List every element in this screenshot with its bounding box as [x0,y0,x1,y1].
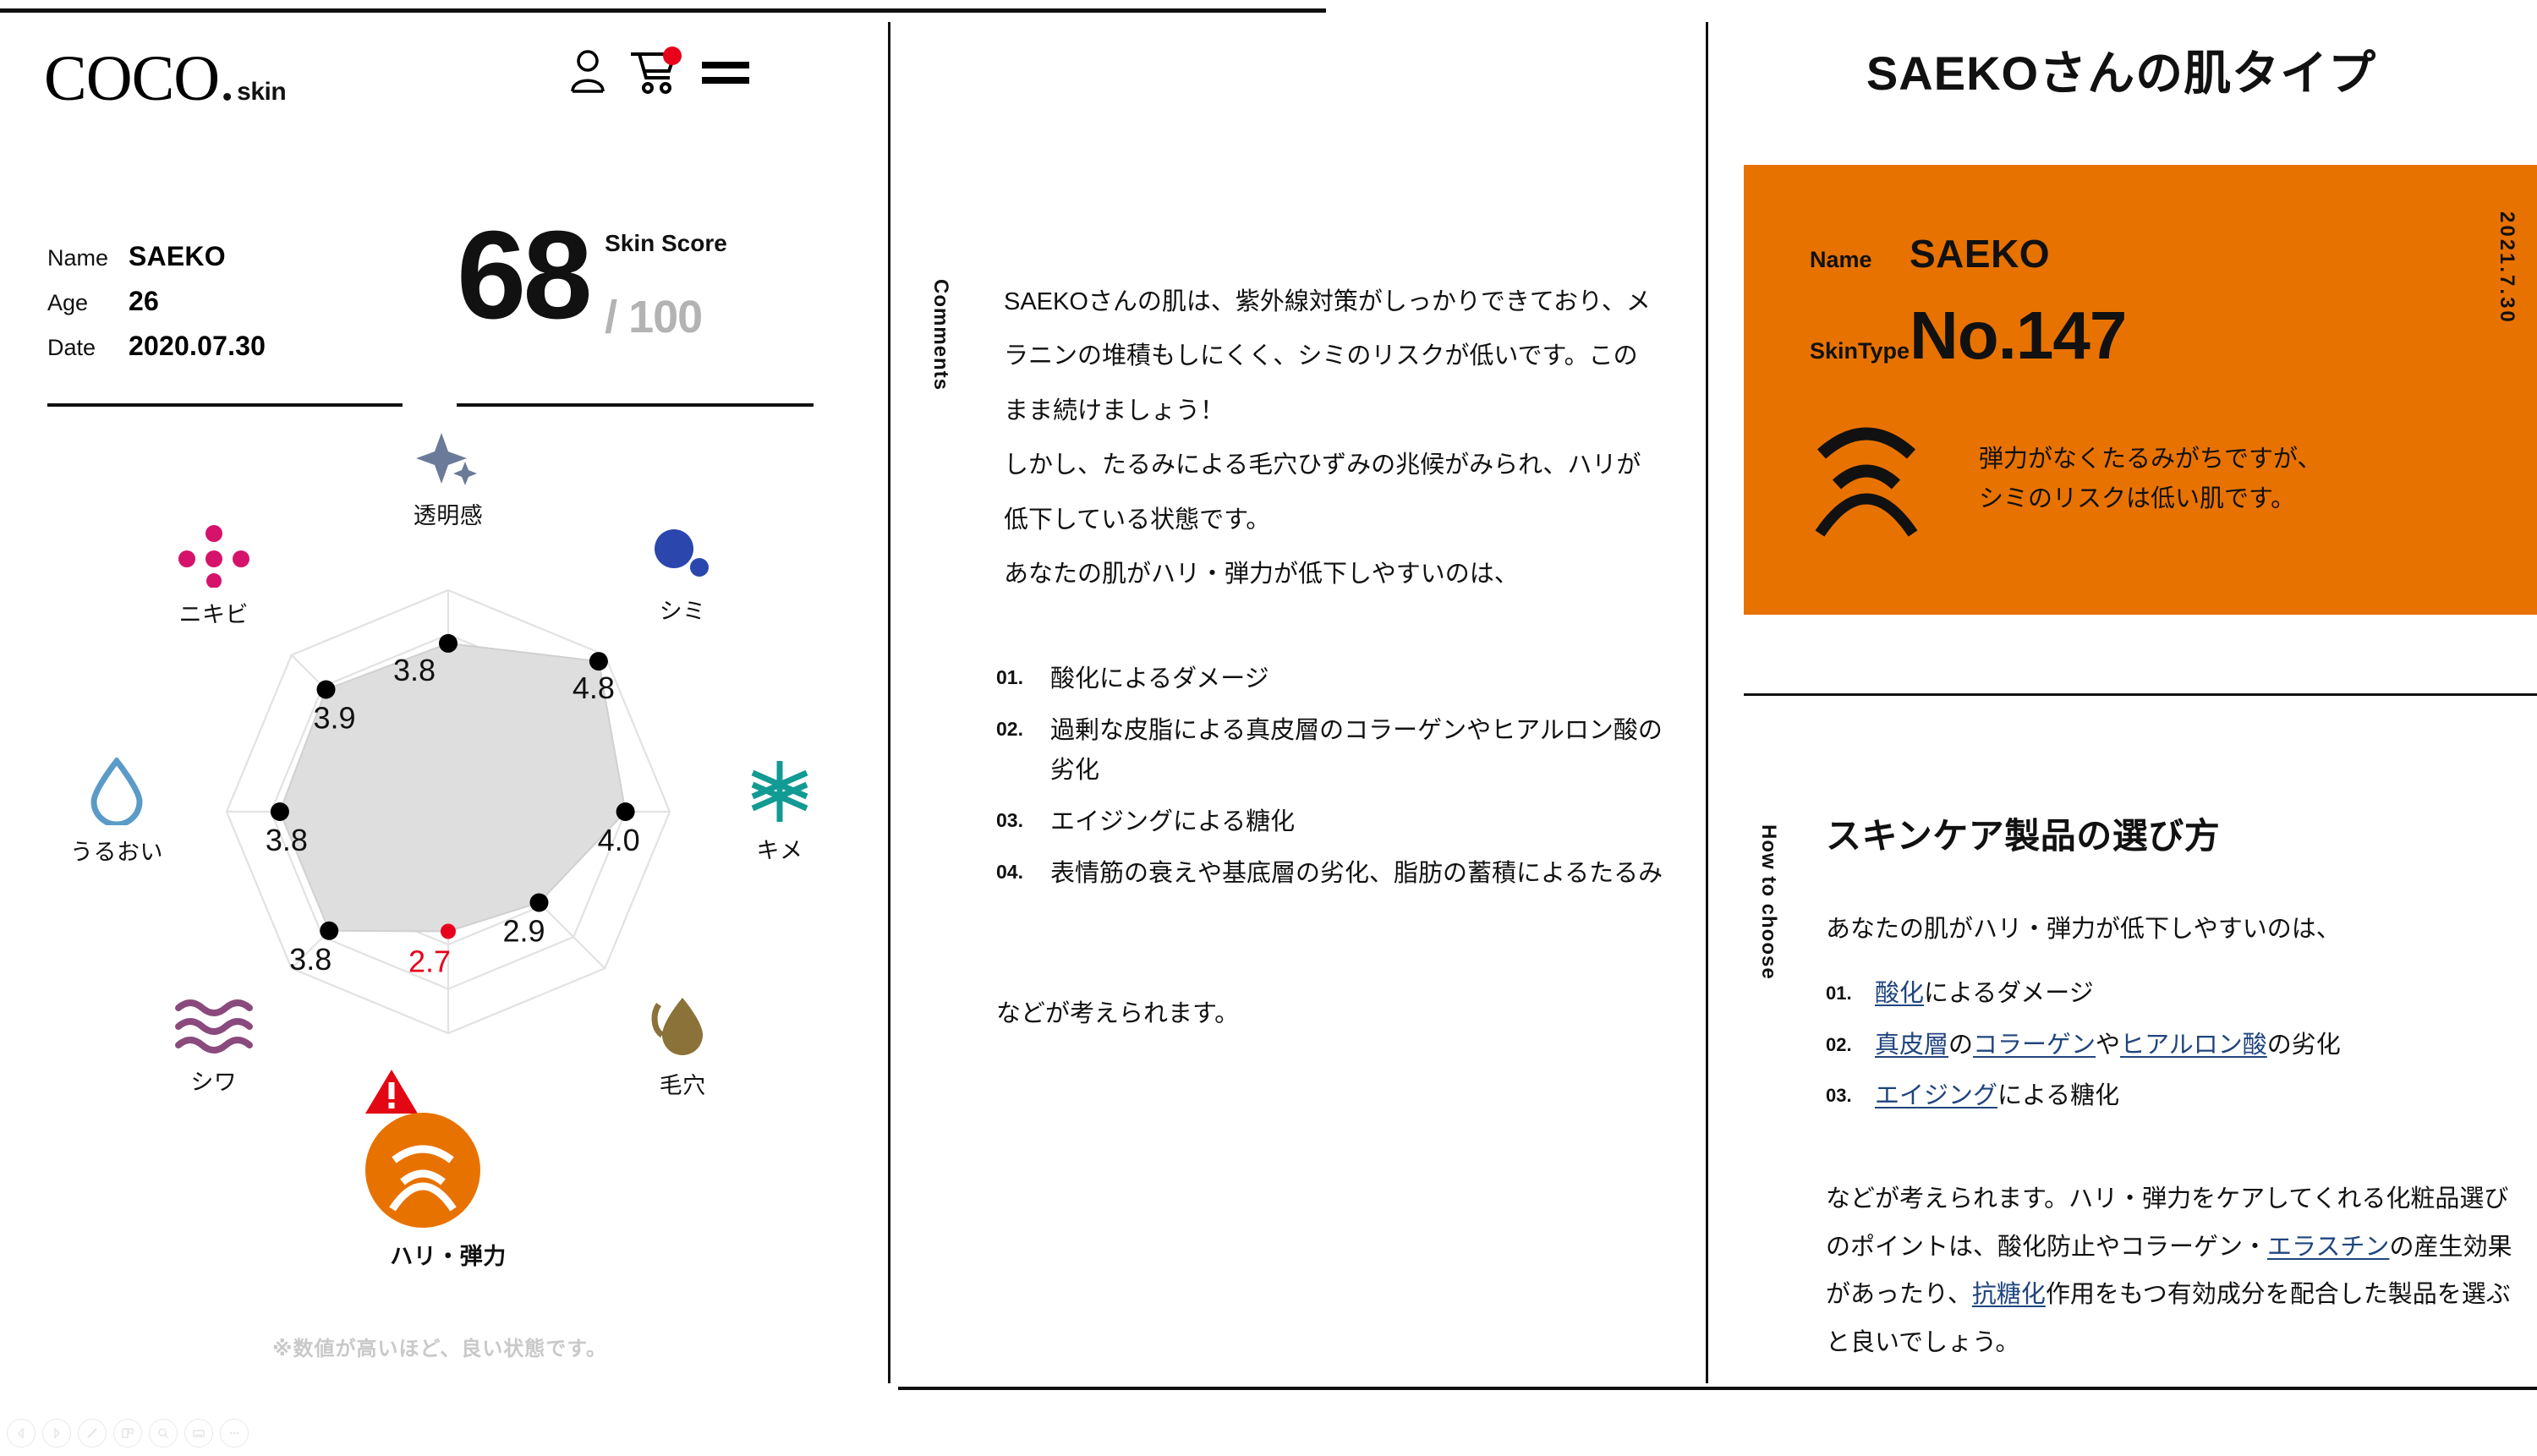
card-name-row: Name SAEKO [1810,231,2050,276]
card-type-value: No.147 [1910,302,2126,369]
card-type-label: SkinType [1810,338,1910,364]
profile-block: Name SAEKO Age 26 Date 2020.07.30 [47,241,403,375]
skin-score-max: / 100 [605,291,727,343]
cart-badge [663,47,682,65]
comment-list-number: 04. [996,854,1050,894]
skin-score-label: Skin Score [605,230,727,257]
header-icon-group [568,49,751,95]
category-icon-5 [129,996,299,1055]
radar-value-label: 3.8 [393,653,436,687]
comments-vertical-label: Comments [929,279,952,391]
comments-body: SAEKOさんの肌は、紫外線対策がしっかりできており、メラニンの堆積もしにくく、… [1004,275,1653,601]
profile-row-date: Date 2020.07.30 [47,331,403,362]
profile-name-value: SAEKO [129,241,226,272]
profile-underline [47,403,403,407]
radar-point [441,924,456,939]
card-description: 弾力がなくたるみがちですが、 シミのリスクは低い肌です。 [1979,440,2321,519]
comment-list-text: 過剰な皮脂による真皮層のコラーゲンやヒアルロン酸の劣化 [1050,711,1673,791]
comment-list-text: エイジングによる糖化 [1050,802,1295,842]
how-to-choose-list: 01.酸化によるダメージ02.真皮層のコラーゲンやヒアルロン酸の劣化03.エイジ… [1826,977,2502,1130]
radar-footnote: ※数値が高いほど、良い状態です。 [0,1332,879,1361]
how-to-choose-title: スキンケア製品の選び方 [1826,807,2220,859]
skin-score-value: 68 [457,218,589,333]
how-to-list-number: 02. [1826,1028,1875,1063]
how-to-list-text: の劣化 [2267,1032,2341,1059]
comment-list-number: 01. [996,660,1050,699]
how-to-list-link[interactable]: コラーゲン [1973,1032,2096,1059]
how-to-list-text: 酸化によるダメージ [1875,977,2094,1011]
profile-age-label: Age [47,290,129,316]
comment-paragraph: SAEKOさんの肌は、紫外線対策がしっかりできており、メラニンの堆積もしにくく、… [1004,275,1653,438]
radar-value-label: 3.8 [289,942,332,977]
how-to-list-number: 01. [1826,977,1875,1011]
card-name-label: Name [1810,247,1910,273]
radar-category-5: シワ [129,996,299,1097]
user-icon[interactable] [568,49,607,95]
skin-radar-chart: 3.84.84.02.92.73.83.83.9 透明感シミキメ毛穴ハリ・弾力シ… [25,457,871,1167]
how-to-list-link[interactable]: ヒアルロン酸 [2120,1032,2267,1059]
profile-name-label: Name [47,245,129,271]
radar-value-label: 2.9 [502,914,545,949]
skin-score-side: Skin Score / 100 [605,218,727,343]
category-icon-1 [598,528,767,584]
profile-date-label: Date [47,335,129,361]
comments-column: Comments SAEKOさんの肌は、紫外線対策がしっかりできており、メラニン… [888,0,1706,1456]
search-icon[interactable] [149,1419,178,1448]
radar-point [530,894,549,912]
comment-list-number: 02. [996,711,1050,791]
how-to-list-link[interactable]: 酸化 [1875,980,1924,1007]
profile-row-age: Age 26 [47,286,403,317]
radar-category-label: うるおい [32,834,201,867]
brand-dot: . [219,47,235,111]
skin-type-column: SAEKOさんの肌タイプ Name SAEKO SkinType No.147 … [1706,0,2537,1456]
category-icon-3 [598,993,767,1059]
how-to-list-text: の [1948,1032,1973,1059]
next-page-icon[interactable] [42,1419,71,1448]
comment-list-item: 03.エイジングによる糖化 [996,802,1673,842]
category-icon-0 [364,431,533,489]
alert-icon [364,1067,533,1116]
profile-row-name: Name SAEKO [47,241,403,272]
skin-type-card: Name SAEKO SkinType No.147 2021.7.30 弾力が… [1744,165,2537,615]
how-to-paragraph-link[interactable]: エラスチン [2267,1234,2389,1261]
comment-list-number: 03. [996,802,1050,842]
how-to-list-text: や [2096,1032,2120,1059]
radar-category-label: ハリ・弾力 [364,1238,533,1271]
how-to-list-item: 01.酸化によるダメージ [1826,977,2502,1011]
category-icon-6 [32,758,201,825]
left-column: COCO . skin [0,0,888,1456]
brand-name: COCO [44,47,219,111]
skin-score-block: 68 Skin Score / 100 [457,218,837,343]
radar-value-label: 2.7 [408,944,451,979]
radar-point [271,802,289,821]
comment-list-text: 酸化によるダメージ [1050,660,1269,699]
radar-value-label: 3.9 [313,701,355,736]
radar-category-label: キメ [695,832,864,865]
comments-list: 01.酸化によるダメージ02.過剰な皮脂による真皮層のコラーゲンやヒアルロン酸の… [996,660,1673,906]
score-underline [457,403,814,407]
radar-category-label: ニキビ [129,596,299,629]
radar-value-label: 4.0 [598,823,640,857]
card-description-line1: 弾力がなくたるみがちですが、 [1979,440,2321,479]
brand-logo[interactable]: COCO . skin [44,47,286,111]
card-name-value: SAEKO [1910,231,2050,276]
comment-paragraph: あなたの肌がハリ・弾力が低下しやすいのは、 [1004,547,1653,601]
card-type-row: SkinType No.147 [1810,302,2126,369]
how-to-list-link[interactable]: エイジング [1875,1082,1997,1109]
elasticity-circle-icon [364,1111,533,1229]
radar-category-4: ハリ・弾力 [364,1067,533,1271]
how-to-list-item: 03.エイジングによる糖化 [1826,1079,2502,1114]
brand-suffix: skin [237,78,286,107]
how-to-list-text: による糖化 [1997,1082,2119,1109]
skin-type-title: SAEKOさんの肌タイプ [1706,36,2537,104]
category-icon-2 [695,759,864,824]
how-to-list-text: 真皮層のコラーゲンやヒアルロン酸の劣化 [1875,1028,2341,1063]
pen-icon[interactable] [78,1419,107,1448]
profile-date-value: 2020.07.30 [129,331,266,362]
radar-point [589,652,608,671]
profile-age-value: 26 [129,286,159,317]
radar-category-1: シミ [598,528,767,626]
radar-category-7: ニキビ [129,525,299,629]
keyboard-icon[interactable] [184,1419,213,1448]
radar-category-6: うるおい [32,758,201,867]
radar-category-2: キメ [695,759,864,865]
hamburger-menu-icon[interactable] [700,57,751,87]
radar-point [439,634,458,653]
more-icon[interactable] [220,1419,249,1448]
radar-value-label: 3.8 [266,823,308,857]
how-to-list-text: エイジングによる糖化 [1875,1079,2119,1114]
radar-category-0: 透明感 [364,431,533,530]
comment-list-item: 02.過剰な皮脂による真皮層のコラーゲンやヒアルロン酸の劣化 [996,711,1673,791]
layout-icon[interactable] [113,1419,142,1448]
radar-point [616,802,635,821]
radar-value-label: 4.8 [573,671,615,705]
prev-page-icon[interactable] [7,1419,36,1448]
card-date: 2021.7.30 [2495,211,2518,325]
category-icon-7 [129,525,299,588]
radar-category-3: 毛穴 [598,993,767,1100]
how-to-choose-lead: あなたの肌がハリ・弾力が低下しやすいのは、 [1826,909,2341,944]
comment-paragraph: しかし、たるみによる毛穴ひずみの兆候がみられ、ハリが低下している状態です。 [1004,438,1653,547]
radar-category-label: シワ [129,1064,299,1097]
pdf-toolbar[interactable] [7,1419,249,1448]
comments-tail: などが考えられます。 [996,993,1239,1029]
how-to-choose-vertical-label: How to choose [1756,824,1780,980]
comment-list-item: 01.酸化によるダメージ [996,660,1673,699]
card-description-line2: シミのリスクは低い肌です。 [1979,479,2321,519]
radar-category-label: 透明感 [364,497,533,530]
comment-list-text: 表情筋の衰えや基底層の劣化、脂肪の蓄積によるたるみ [1050,854,1663,894]
comment-list-item: 04.表情筋の衰えや基底層の劣化、脂肪の蓄積によるたるみ [996,854,1673,894]
how-to-list-link[interactable]: 真皮層 [1875,1032,1948,1059]
how-to-paragraph-link[interactable]: 抗糖化 [1972,1281,2046,1308]
how-to-list-text: によるダメージ [1924,980,2094,1007]
report-page: COCO . skin [0,0,2537,1456]
cart-icon[interactable] [629,49,678,95]
how-to-choose-paragraph: などが考えられます。ハリ・弾力をケアしてくれる化粧品選びのポイントは、酸化防止や… [1826,1175,2528,1366]
radar-point [320,922,338,940]
how-to-list-item: 02.真皮層のコラーゲンやヒアルロン酸の劣化 [1826,1028,2502,1063]
radar-point [317,681,336,699]
elasticity-arc-icon [1803,410,1930,537]
radar-category-label: シミ [598,593,767,626]
how-to-list-number: 03. [1826,1079,1875,1114]
radar-category-label: 毛穴 [598,1067,767,1100]
